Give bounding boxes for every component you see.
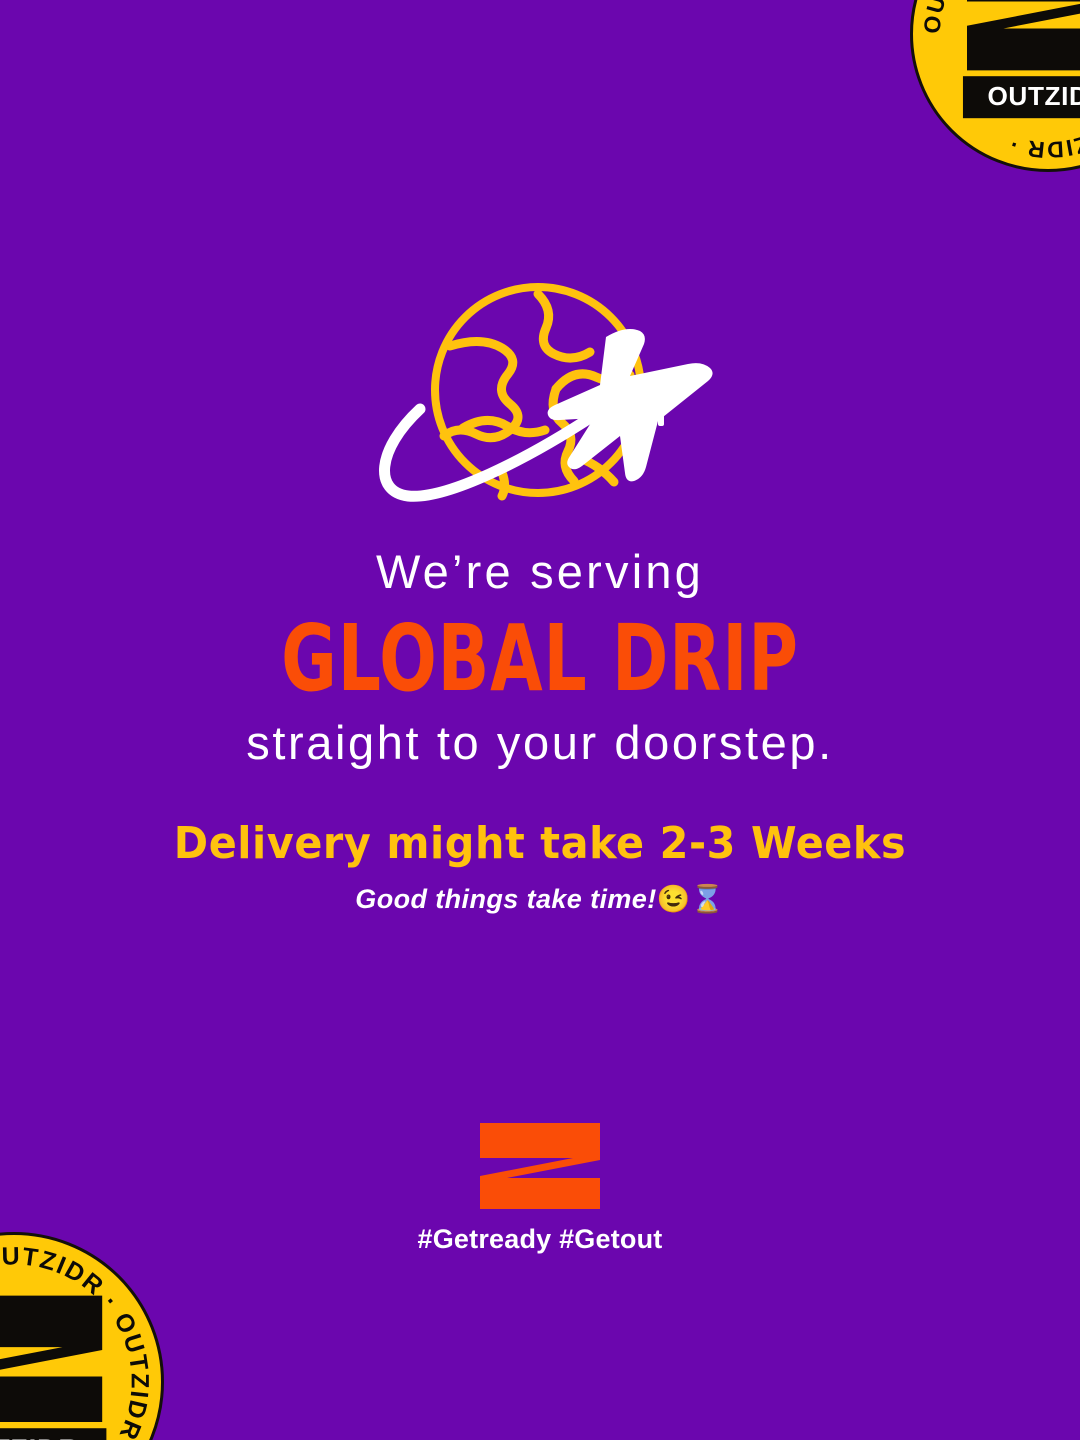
badge-core-top-right: OUTZIDR <box>963 0 1080 118</box>
badge-wordmark-bottom-left: OUTZIDR <box>0 1435 80 1440</box>
badge-wordmark-top-right: OUTZIDR <box>988 81 1080 111</box>
wink-face-icon: 😉 <box>657 884 691 914</box>
delivery-subtext-row: Good things take time!😉⌛ <box>0 883 1080 915</box>
badge-core-bottom-left: OUTZIDR <box>0 1291 107 1440</box>
poster-canvas: We’re serving GLOBAL DRIP straight to yo… <box>0 0 1080 1440</box>
copy-line-serving: We’re serving <box>0 546 1080 599</box>
copy-line-doorstep: straight to your doorstep. <box>0 717 1080 770</box>
badge-wordmark-box-top-right: OUTZIDR <box>963 76 1080 117</box>
outzidr-z-logo <box>477 1120 603 1212</box>
delivery-note-block: Delivery might take 2-3 Weeks Good thing… <box>0 818 1080 915</box>
outzidr-z-logo-badge-bottom-left <box>0 1291 107 1426</box>
headline-block: We’re serving GLOBAL DRIP straight to yo… <box>0 546 1080 770</box>
hourglass-icon: ⌛ <box>691 884 725 914</box>
copy-headline: GLOBAL DRIP <box>97 611 983 708</box>
globe-with-airplane-icon <box>350 272 730 522</box>
outzidr-stamp-badge-bottom-left: OUTZIDR · OUTZIDR · OUTZIDR · OUTZIDR · … <box>0 1232 164 1440</box>
footer-hashtags: #Getready #Getout <box>418 1224 663 1255</box>
outzidr-z-logo-badge-top-right <box>963 0 1080 74</box>
badge-wordmark-box-bottom-left: OUTZIDR <box>0 1428 107 1440</box>
airplane-shape <box>548 329 713 481</box>
outzidr-stamp-badge-top-right: OUTZIDR · OUTZIDR · OUTZIDR · OUTZIDR · … <box>910 0 1080 172</box>
delivery-subtext: Good things take time! <box>355 884 656 914</box>
delivery-headline: Delivery might take 2-3 Weeks <box>32 818 1047 869</box>
footer-brand-block: #Getready #Getout <box>0 1120 1080 1255</box>
